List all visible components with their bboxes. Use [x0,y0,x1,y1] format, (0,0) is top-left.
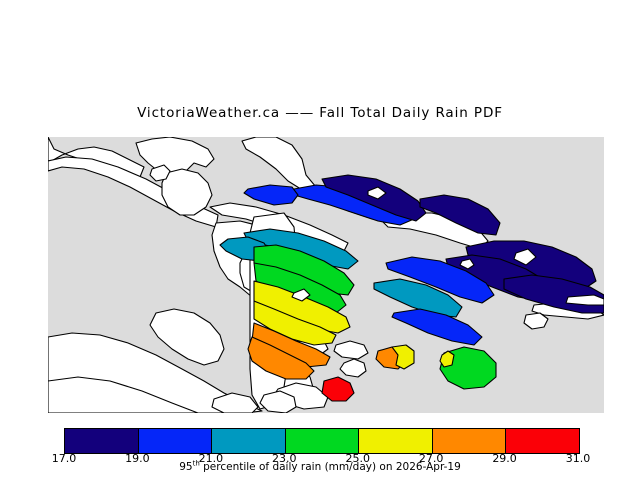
caption-rest: percentile of daily rain (mm/day) on 202… [200,461,461,473]
page-title: VictoriaWeather.ca —— Fall Total Daily R… [0,105,640,121]
colorbar-segment-6[interactable] [506,429,579,453]
caption-superscript: th [193,460,200,468]
colorbar-segment-4[interactable] [359,429,433,453]
caption-prefix: 95 [179,461,192,473]
colorbar-segment-3[interactable] [286,429,360,453]
colorbar-caption: 95th percentile of daily rain (mm/day) o… [0,461,640,473]
map-svg [48,137,604,413]
colorbar-segment-5[interactable] [433,429,507,453]
map-canvas[interactable] [48,137,604,413]
colorbar[interactable] [64,428,580,454]
weather-map-page: VictoriaWeather.ca —— Fall Total Daily R… [0,0,640,480]
colorbar-segment-2[interactable] [212,429,286,453]
colorbar-segment-1[interactable] [139,429,213,453]
colorbar-segment-0[interactable] [65,429,139,453]
coast-east-spit [566,295,604,305]
